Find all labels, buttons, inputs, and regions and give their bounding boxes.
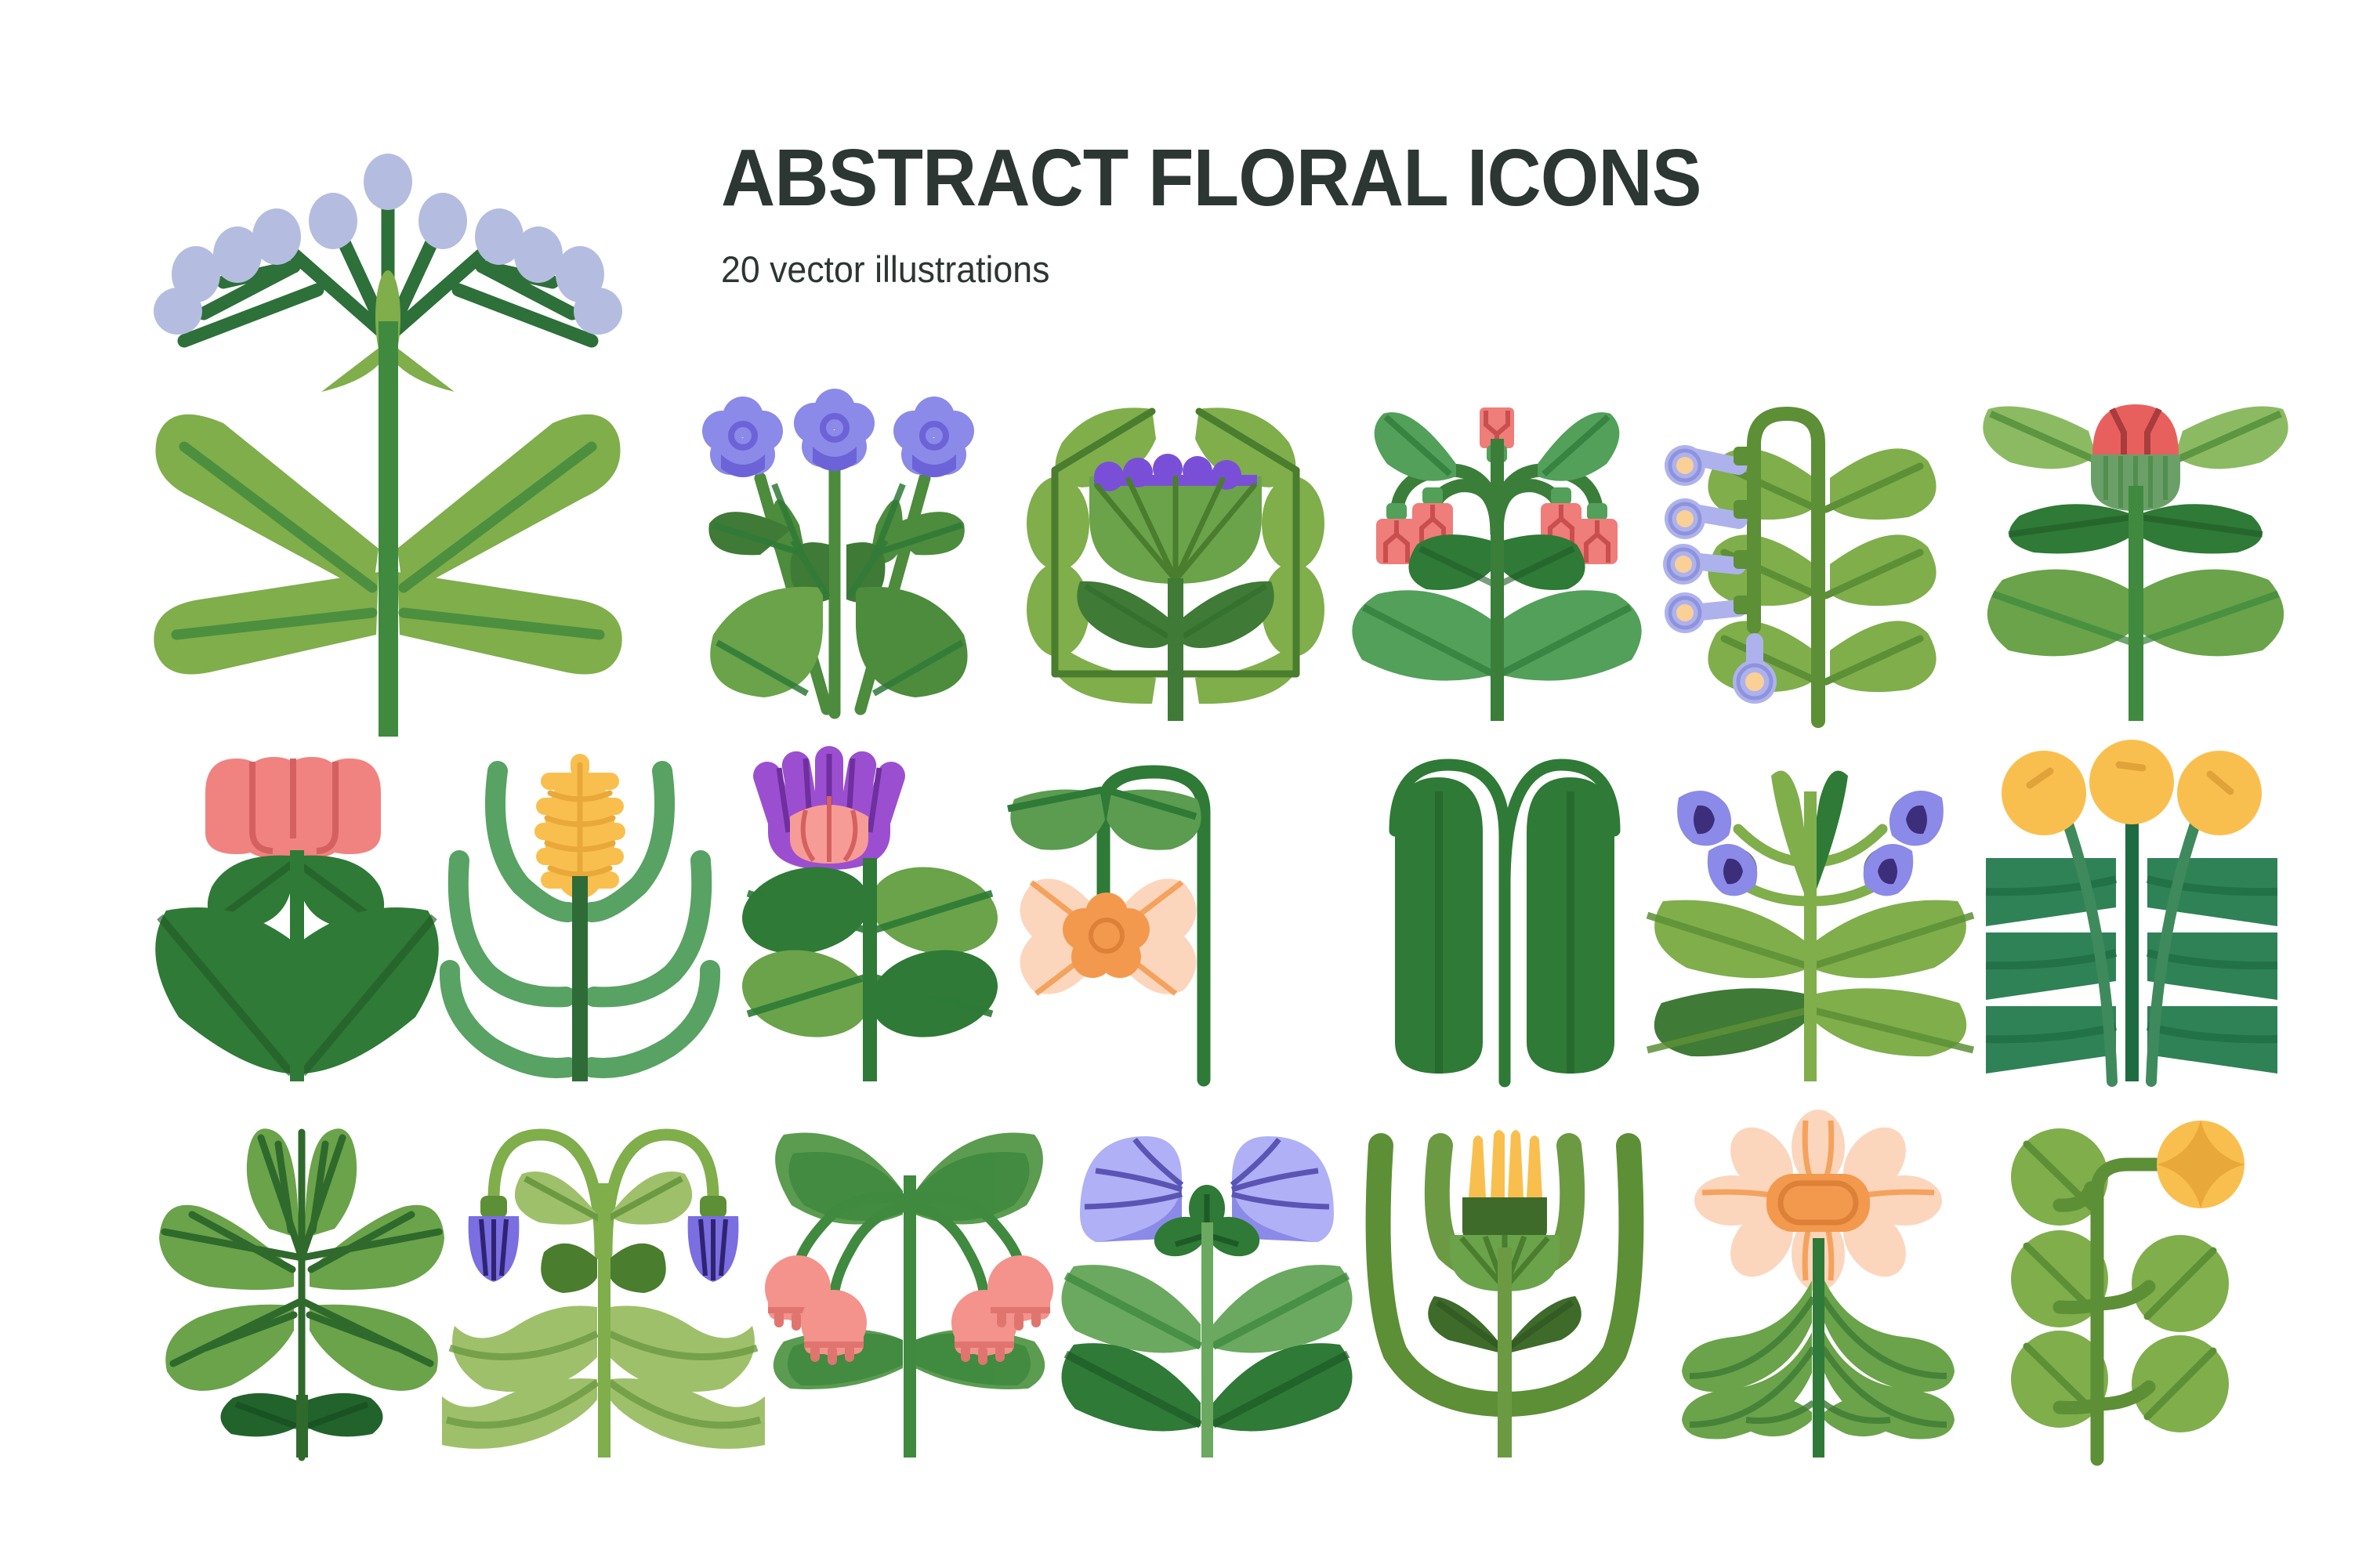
lobed-leaf-stem (296, 1395, 308, 1458)
umbel-main-stem (379, 321, 398, 737)
tulip-head (205, 757, 381, 858)
pompom-center-stem (2125, 799, 2139, 1081)
thistle-stem (1168, 578, 1183, 721)
round-vine-star-bloom (2157, 1121, 2244, 1208)
illustration-yellow-pompom-trio[interactable] (1975, 744, 2304, 1089)
illustration-twin-arched-leaves[interactable] (1348, 744, 1677, 1089)
poster-canvas: ABSTRACT FLORAL ICONS 20 vector illustra… (0, 0, 2355, 1568)
purple-thistle-stem (863, 858, 877, 1081)
illustration-morning-glory-pair[interactable] (1050, 1113, 1379, 1458)
thistle-bloom (1089, 454, 1262, 584)
peach-daisy-stem (1813, 1238, 1824, 1458)
illustration-pink-lantern-bells[interactable] (752, 1113, 1081, 1458)
pompom-heads (2002, 740, 2262, 835)
illustration-red-clover-bud[interactable] (1979, 384, 2308, 729)
wheat-stem (572, 876, 588, 1081)
clover-stem (2129, 486, 2143, 721)
page-title: ABSTRACT FLORAL ICONS (721, 137, 1701, 218)
wheat-cup-stem (1498, 1248, 1512, 1458)
bellflower-stem (1491, 439, 1504, 721)
page-subtitle: 20 vector illustrations (721, 248, 1722, 291)
bluebell-stem (598, 1183, 610, 1458)
illustration-lobed-leaf[interactable] (145, 1113, 474, 1458)
illustration-violet-bellflowers[interactable] (1654, 744, 1983, 1089)
violet-bell-stem (1804, 791, 1817, 1081)
illustration-umbel-berry-plant[interactable] (137, 86, 639, 737)
illustration-pink-tulip[interactable] (141, 744, 470, 1089)
illustration-violet-trio-flowers[interactable] (690, 384, 1019, 729)
purple-thistle-bloom (749, 746, 908, 870)
peach-four-petal-flower (1020, 878, 1196, 994)
lantern-stem (904, 1175, 916, 1458)
illustration-peach-daisy[interactable] (1661, 1113, 1991, 1458)
tulip-stem (290, 850, 304, 1081)
header-block: ABSTRACT FLORAL ICONS 20 vector illustra… (721, 137, 1775, 291)
illustration-drooping-peach-flower[interactable] (1019, 744, 1348, 1089)
illustration-bluebell-pair[interactable] (447, 1113, 776, 1458)
illustration-wheat-cup-flower[interactable] (1348, 1113, 1677, 1458)
illustration-pink-bellflower-arch[interactable] (1340, 384, 1669, 729)
morning-glory-stem (1201, 1222, 1213, 1458)
peach-daisy-center (1766, 1174, 1870, 1232)
violet-flower-heads (702, 389, 974, 477)
illustration-golden-wheat[interactable] (462, 744, 792, 1089)
illustration-leafy-branch-buds[interactable] (1661, 384, 1991, 729)
illustration-framed-thistle[interactable] (1019, 384, 1348, 729)
illustration-round-leaf-vine[interactable] (1975, 1113, 2304, 1458)
